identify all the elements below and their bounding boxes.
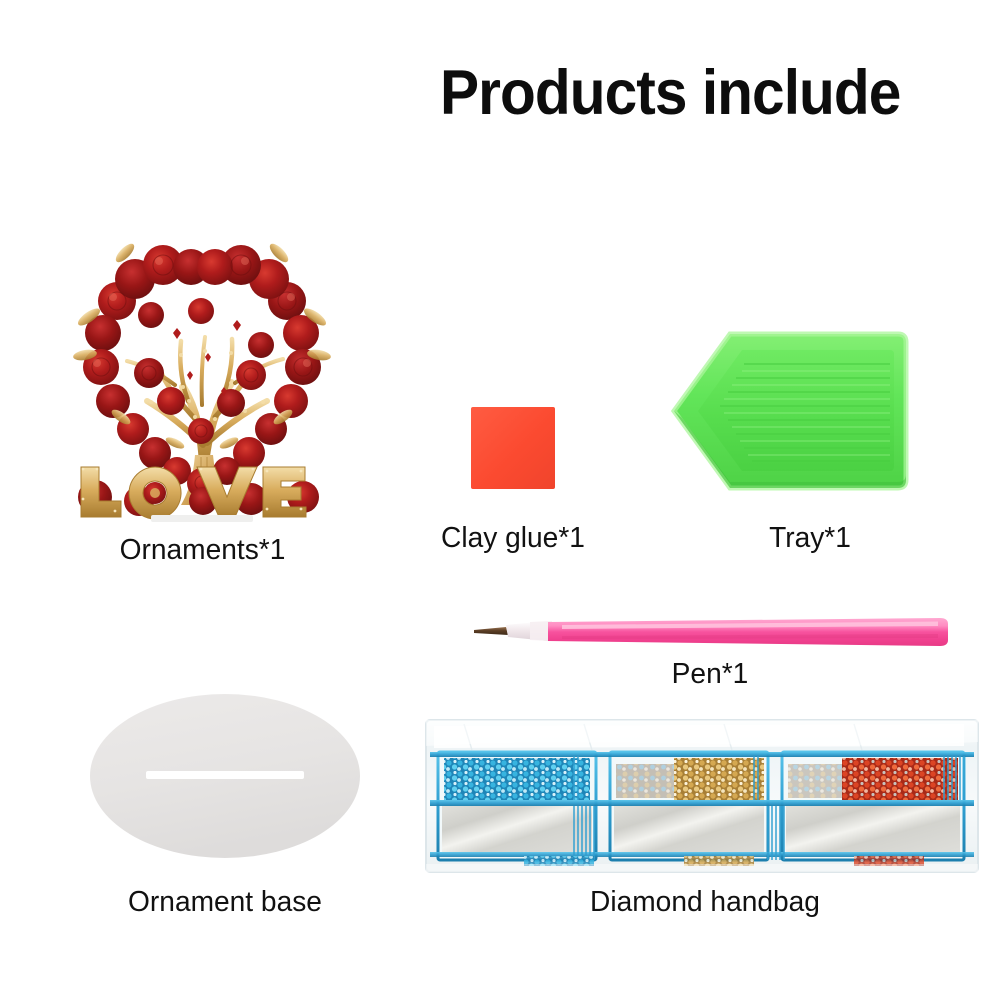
- diamond-handbag-image: [424, 716, 980, 876]
- clay-glue-label: Clay glue*1: [406, 522, 619, 555]
- ornaments-label: Ornaments*1: [59, 534, 345, 567]
- ornament-base-label: Ornament base: [89, 886, 361, 919]
- diamond-handbag-label: Diamond handbag: [545, 886, 865, 919]
- product-contents-page: Products include: [0, 0, 1001, 1001]
- tray-image: [612, 316, 912, 506]
- pen-label: Pen*1: [603, 658, 816, 691]
- page-title: Products include: [440, 62, 961, 125]
- pen-image: [470, 612, 950, 652]
- tray-label: Tray*1: [703, 522, 916, 555]
- clay-glue-image: [471, 407, 555, 489]
- ornament-base-image: [88, 692, 362, 860]
- ornaments-image: [55, 205, 350, 525]
